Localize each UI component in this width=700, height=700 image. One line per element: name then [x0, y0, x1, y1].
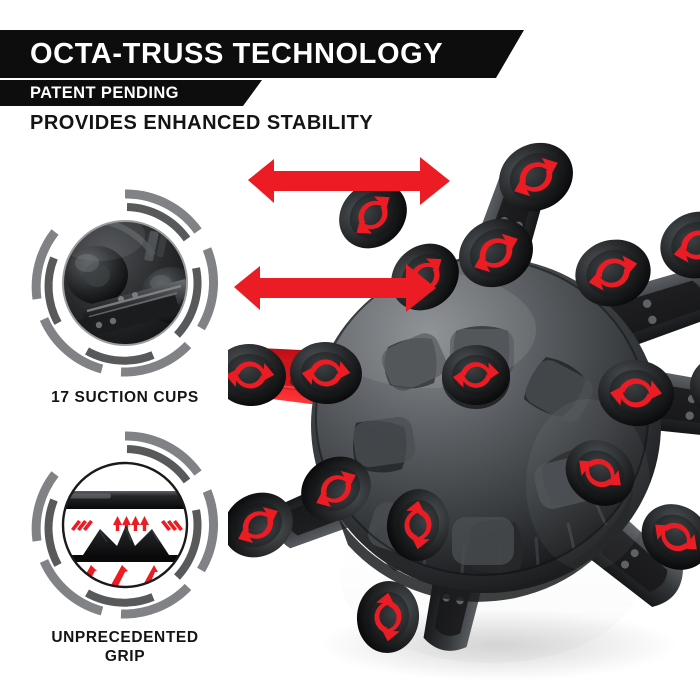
infographic-canvas: OCTA-TRUSS TECHNOLOGY PATENT PENDING PRO…: [0, 0, 700, 700]
title-banner: OCTA-TRUSS TECHNOLOGY: [0, 30, 524, 78]
suction-cup-center: [442, 345, 510, 409]
grip-label: UNPRECEDENTED GRIP: [25, 628, 225, 666]
product-hub: [311, 257, 661, 602]
page-title: OCTA-TRUSS TECHNOLOGY: [0, 40, 443, 69]
grip-badge: [25, 425, 225, 625]
patent-label: PATENT PENDING: [0, 85, 179, 102]
motion-arrows: [234, 157, 450, 312]
suction-cups-badge: [25, 183, 225, 383]
patent-banner: PATENT PENDING: [0, 80, 262, 106]
suction-cups-label: 17 SUCTION CUPS: [25, 388, 225, 407]
product-image: [228, 125, 700, 685]
grip-label-line1: UNPRECEDENTED: [51, 629, 198, 646]
grip-label-line2: GRIP: [105, 648, 145, 665]
